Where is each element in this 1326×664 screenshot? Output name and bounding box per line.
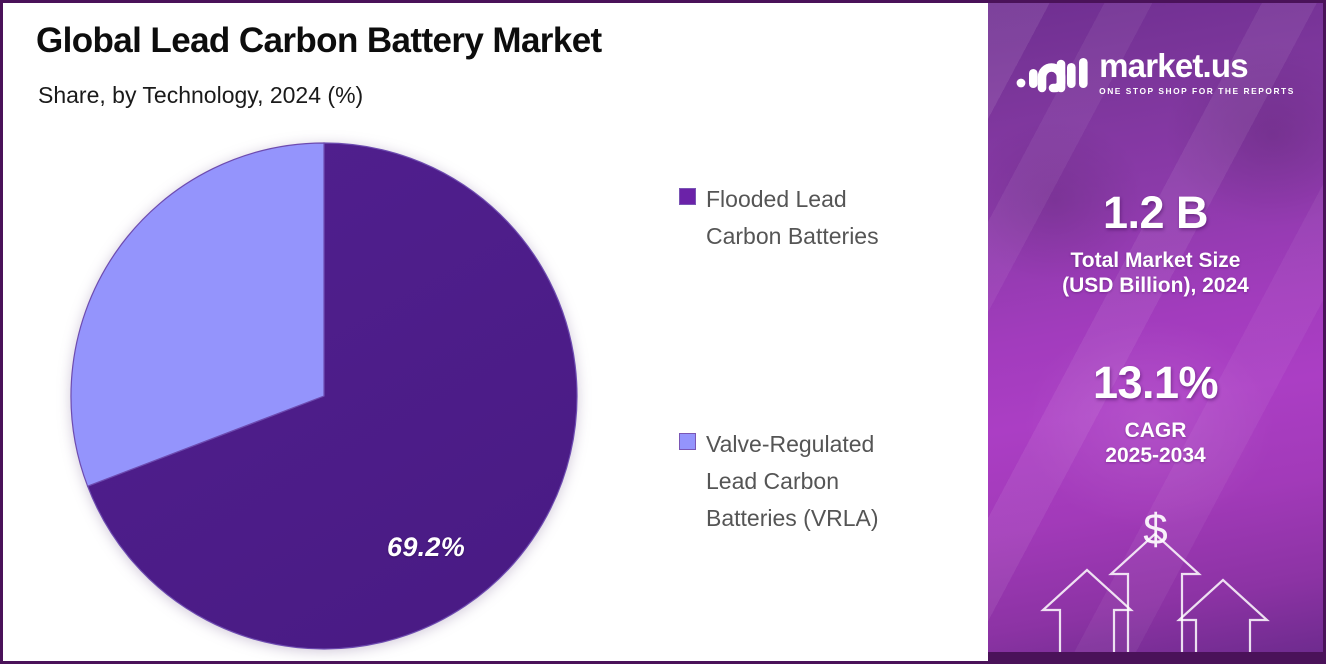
legend-label-line: Batteries (VRLA) [706, 505, 879, 531]
stat-caption-line: 2025-2034 [988, 444, 1323, 469]
legend-item-flooded-lead-carbon-batteries[interactable]: Flooded LeadCarbon Batteries [679, 181, 879, 255]
legend-label-line: Flooded Lead [706, 186, 847, 212]
dollar-sign-icon: $ [988, 508, 1323, 552]
stat-caption: Total Market Size (USD Billion), 2024 [988, 249, 1323, 299]
legend-label-line: Carbon Batteries [706, 223, 879, 249]
logo-text-block: market.us ONE STOP SHOP FOR THE REPORTS [1099, 49, 1295, 96]
page-title: Global Lead Carbon Battery Market [36, 21, 602, 61]
brand-panel: market.us ONE STOP SHOP FOR THE REPORTS … [988, 3, 1323, 661]
pie-svg [65, 137, 583, 655]
stat-caption-line: (USD Billion), 2024 [988, 274, 1323, 299]
legend-color-swatch-icon [679, 188, 696, 205]
logo-wordmark: market.us [1099, 49, 1295, 82]
logo-tagline: ONE STOP SHOP FOR THE REPORTS [1099, 86, 1295, 96]
chart-panel: Global Lead Carbon Battery Market Share,… [3, 3, 988, 661]
infographic-page: Global Lead Carbon Battery Market Share,… [0, 0, 1326, 664]
stat-caption-line: Total Market Size [988, 249, 1323, 274]
page-subtitle: Share, by Technology, 2024 (%) [38, 82, 363, 109]
legend-item-label: Valve-RegulatedLead CarbonBatteries (VRL… [706, 426, 879, 537]
stat-cagr: 13.1% CAGR 2025-2034 [988, 358, 1323, 469]
stat-caption-line: CAGR [988, 419, 1323, 444]
legend-label-line: Valve-Regulated [706, 431, 874, 457]
legend-item-valve-regulated-lead-carbon-batteries[interactable]: Valve-RegulatedLead CarbonBatteries (VRL… [679, 426, 879, 537]
growth-arrows-artwork: $ [988, 492, 1323, 652]
market-us-logo-mark-icon [1016, 52, 1088, 94]
legend-item-label: Flooded LeadCarbon Batteries [706, 181, 879, 255]
legend-color-swatch-icon [679, 433, 696, 450]
stat-total-market-size: 1.2 B Total Market Size (USD Billion), 2… [988, 188, 1323, 299]
stat-caption: CAGR 2025-2034 [988, 419, 1323, 469]
legend-label-line: Lead Carbon [706, 468, 839, 494]
brand-bottom-strip [988, 652, 1323, 661]
stat-value: 13.1% [988, 358, 1323, 408]
pie-chart: 69.2% [65, 137, 583, 655]
market-us-logo[interactable]: market.us ONE STOP SHOP FOR THE REPORTS [988, 49, 1323, 96]
pie-slice-label-major: 69.2% [387, 532, 465, 563]
stat-value: 1.2 B [988, 188, 1323, 238]
